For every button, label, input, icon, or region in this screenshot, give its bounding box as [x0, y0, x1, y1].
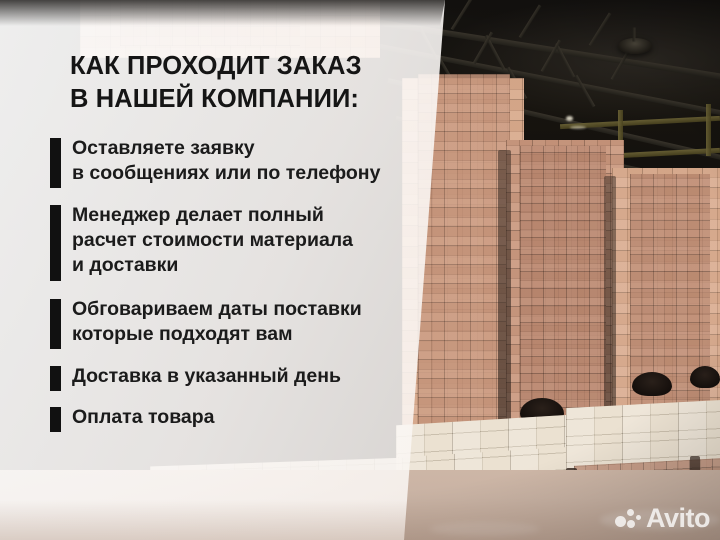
light-speck	[570, 126, 586, 129]
list-item-label: Обговариваем даты поставки которые подхо…	[72, 297, 362, 347]
avito-brand-label: Avito	[646, 505, 710, 532]
pallet-void	[632, 372, 672, 396]
bullet-marker	[50, 138, 61, 188]
page-title: КАК ПРОХОДИТ ЗАКАЗ В НАШЕЙ КОМПАНИИ:	[70, 50, 440, 115]
list-item: Оставляете заявку в сообщениях или по те…	[50, 138, 450, 188]
stack-gap-shadow	[498, 150, 511, 434]
list-item: Оплата товара	[50, 407, 450, 432]
lamp-stem	[633, 28, 636, 42]
gantry-post	[706, 104, 711, 156]
banner-image: КАК ПРОХОДИТ ЗАКАЗ В НАШЕЙ КОМПАНИИ: Ост…	[0, 0, 720, 540]
stack-gap-shadow	[604, 176, 616, 434]
bullet-marker	[50, 299, 61, 349]
brick-stack	[520, 146, 606, 442]
list-item: Менеджер делает полный расчет стоимости …	[50, 205, 450, 281]
banner-content: КАК ПРОХОДИТ ЗАКАЗ В НАШЕЙ КОМПАНИИ: Ост…	[0, 0, 470, 540]
list-item-label: Менеджер делает полный расчет стоимости …	[72, 203, 353, 278]
list-item: Доставка в указанный день	[50, 366, 450, 391]
bullet-marker	[50, 205, 61, 281]
steps-list: Оставляете заявку в сообщениях или по те…	[50, 138, 450, 432]
list-item-label: Доставка в указанный день	[72, 364, 341, 389]
list-item-label: Оплата товара	[72, 405, 215, 430]
pallet-void	[690, 366, 720, 388]
light-speck	[566, 116, 573, 121]
bullet-marker	[50, 407, 61, 432]
list-item: Обговариваем даты поставки которые подхо…	[50, 299, 450, 349]
avito-watermark: Avito	[615, 505, 710, 532]
list-item-label: Оставляете заявку в сообщениях или по те…	[72, 136, 380, 186]
avito-dots-icon	[615, 507, 641, 531]
bullet-marker	[50, 366, 61, 391]
